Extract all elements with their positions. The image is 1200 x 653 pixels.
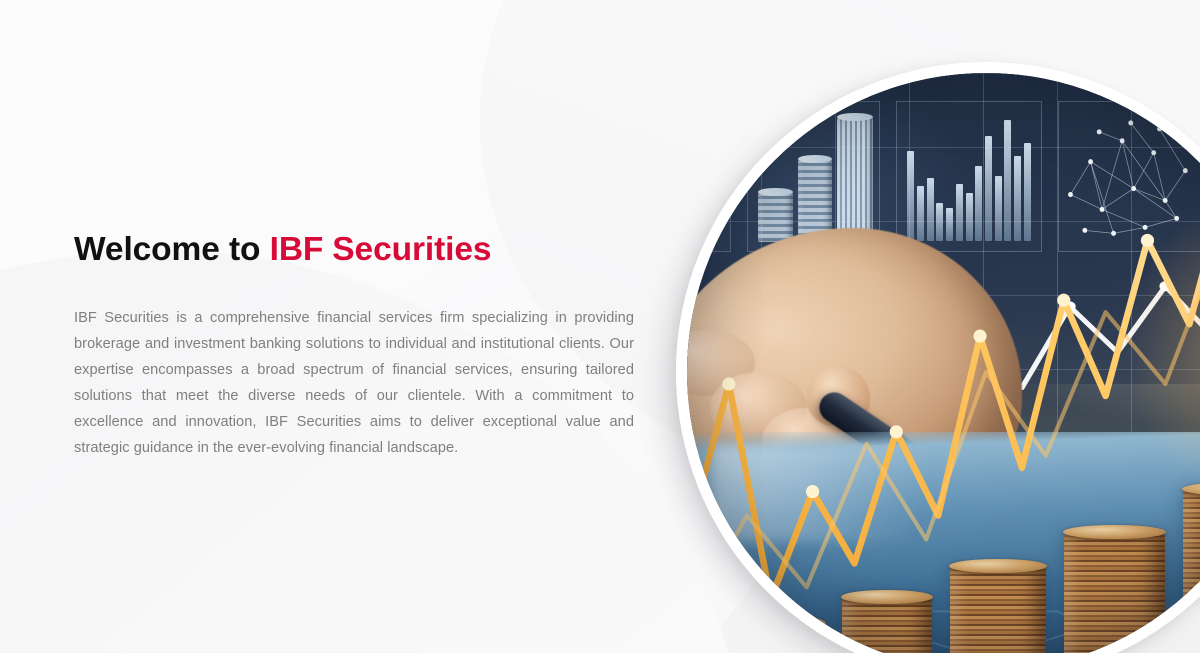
brand-name-securities: Securities [332, 231, 491, 268]
hero-copy-block: Welcome to IBFSecurities IBF Securities … [74, 230, 634, 461]
hero-section: Welcome to IBFSecurities IBF Securities … [0, 0, 1200, 653]
brand-name-ibf: IBF [270, 231, 324, 268]
hero-image [676, 62, 1200, 653]
page-title-lead: Welcome to [74, 231, 260, 268]
page-title: Welcome to IBFSecurities [74, 230, 634, 271]
golden-trend-line [687, 73, 1200, 653]
hero-image-photo [687, 73, 1200, 653]
hero-description: IBF Securities is a comprehensive financ… [74, 305, 634, 461]
hero-image-frame [676, 62, 1200, 653]
